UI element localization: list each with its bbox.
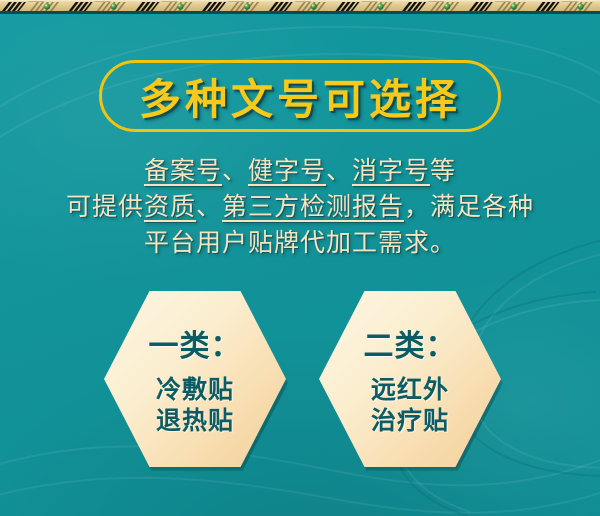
category-one-items: 冷敷贴 退热贴: [156, 375, 234, 437]
category-two-item-1: 远红外: [371, 375, 449, 406]
title-frame: 多种文号可选择: [99, 60, 501, 132]
category-one-item-2: 退热贴: [156, 406, 234, 437]
term-beian: 备案号: [144, 158, 222, 185]
term-third-party-report: 第三方检测报告: [222, 194, 404, 221]
suffix-deng: 等: [430, 158, 456, 185]
category-one-title: 一类：: [149, 321, 242, 365]
description-line-2: 可提供资质、第三方检测报告，满足各种: [0, 190, 600, 226]
sep-2: 、: [326, 158, 352, 185]
category-two-title: 二类：: [364, 321, 457, 365]
poster-canvas: 多种文号可选择 备案号、健字号、消字号等 可提供资质、第三方检测报告，满足各种 …: [0, 0, 600, 516]
suffix-manzu: ，满足各种: [404, 194, 534, 221]
category-one-item-1: 冷敷贴: [156, 375, 234, 406]
page-title: 多种文号可选择: [102, 63, 498, 129]
sep-3: 、: [196, 194, 222, 221]
term-zizhi: 资质: [144, 194, 196, 221]
description-paragraph: 备案号、健字号、消字号等 可提供资质、第三方检测报告，满足各种 平台用户贴牌代加…: [0, 154, 600, 262]
sep-1: 、: [222, 158, 248, 185]
decorative-border-strip: [0, 0, 600, 14]
category-two-item-2: 治疗贴: [371, 406, 449, 437]
border-under-line: [0, 11, 600, 14]
description-line-1: 备案号、健字号、消字号等: [0, 154, 600, 190]
term-xiaozi: 消字号: [352, 158, 430, 185]
line3-text: 平台用户贴牌代加工需求。: [144, 230, 456, 257]
description-line-3: 平台用户贴牌代加工需求。: [0, 226, 600, 262]
term-jianzi: 健字号: [248, 158, 326, 185]
category-two-items: 远红外 治疗贴: [371, 375, 449, 437]
prefix-keti: 可提供: [66, 194, 144, 221]
